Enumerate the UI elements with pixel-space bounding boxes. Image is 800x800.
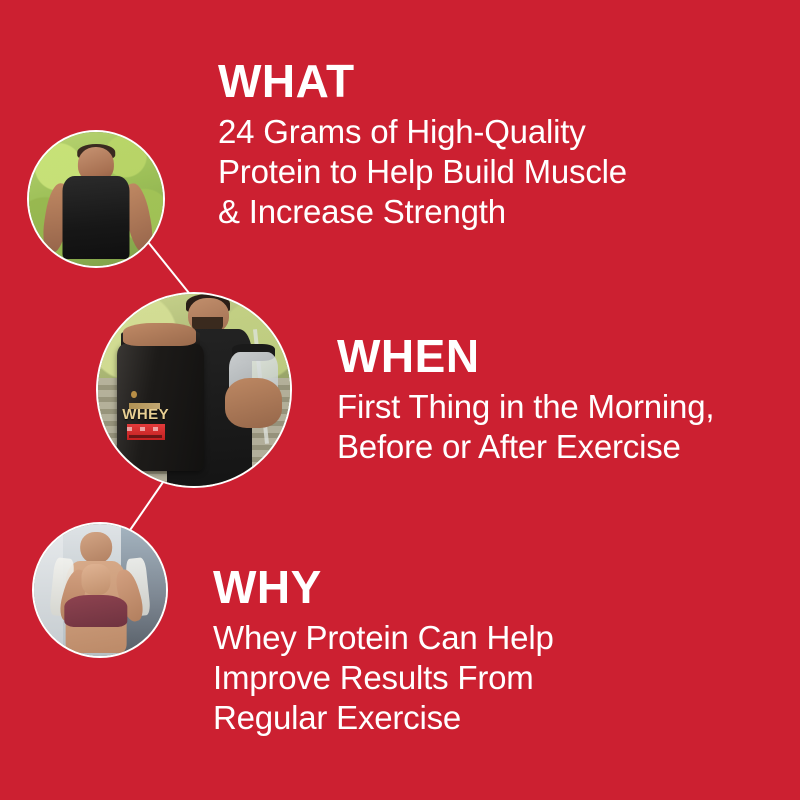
tub-label-bottom-text	[129, 435, 162, 438]
body-what-line-1: 24 Grams of High-Quality	[218, 112, 627, 152]
runner-tank-top	[63, 176, 130, 259]
heading-why: WHY	[213, 564, 554, 610]
section-when: WHEN First Thing in the Morning, Before …	[337, 333, 714, 467]
whey-wordmark: WHEY	[128, 409, 163, 422]
section-what: WHAT 24 Grams of High-Quality Protein to…	[218, 58, 627, 232]
heading-when: WHEN	[337, 333, 714, 379]
body-what: 24 Grams of High-Quality Protein to Help…	[218, 112, 627, 232]
section-why: WHY Whey Protein Can Help Improve Result…	[213, 564, 554, 738]
runner-photo	[27, 130, 165, 268]
heading-what: WHAT	[218, 58, 627, 104]
brand-logo-icon	[131, 391, 137, 399]
body-what-line-2: Protein to Help Build Muscle	[218, 152, 627, 192]
whey-man-hand-on-shaker	[225, 378, 283, 428]
whey-tub-body: WHEY	[117, 344, 203, 471]
whey-protein-infographic: WHEY WHAT 24 Grams	[0, 0, 800, 800]
body-when-line-1: First Thing in the Morning,	[337, 387, 714, 427]
woman-athlete-photo	[32, 522, 168, 658]
body-why-line-3: Regular Exercise	[213, 698, 554, 738]
woman-photo-scene	[34, 524, 166, 656]
body-when: First Thing in the Morning, Before or Af…	[337, 387, 714, 467]
body-why: Whey Protein Can Help Improve Results Fr…	[213, 618, 554, 738]
tub-red-label-band	[127, 424, 165, 440]
whey-photo-scene: WHEY	[98, 294, 290, 486]
woman-head	[80, 532, 112, 564]
runner-photo-scene	[29, 132, 163, 266]
body-why-line-1: Whey Protein Can Help	[213, 618, 554, 658]
tub-label-ticks	[127, 427, 165, 432]
whey-tub-photo: WHEY	[96, 292, 292, 488]
body-why-line-2: Improve Results From	[213, 658, 554, 698]
whey-man-hand-on-lid	[123, 323, 196, 346]
body-when-line-2: Before or After Exercise	[337, 427, 714, 467]
woman-clasped-hands	[82, 564, 111, 596]
sports-bra	[64, 595, 127, 627]
body-what-line-3: & Increase Strength	[218, 192, 627, 232]
